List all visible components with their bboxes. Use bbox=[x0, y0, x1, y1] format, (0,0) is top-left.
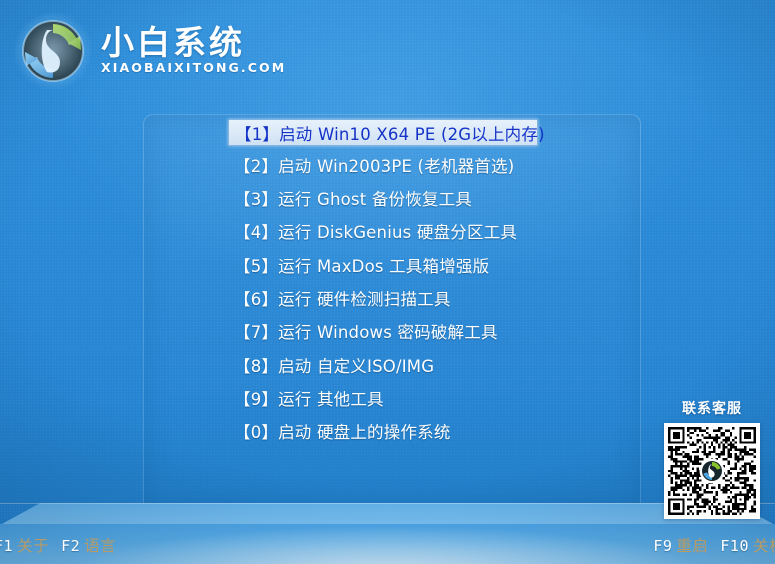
logo-glow bbox=[14, 12, 92, 90]
brand-logo-text: 小白系统 XIAOBAIXITONG.COM bbox=[101, 26, 286, 77]
boot-menu-item-key: 【8】 bbox=[234, 353, 278, 377]
qr-code-icon[interactable] bbox=[664, 423, 760, 519]
boot-menu-item-2[interactable]: 【2】启动 Win2003PE (老机器首选) bbox=[228, 152, 538, 177]
function-key-label-f9[interactable]: 重启 bbox=[676, 537, 708, 555]
boot-menu-item-9[interactable]: 【9】运行 其他工具 bbox=[228, 385, 538, 410]
boot-menu-item-key: 【2】 bbox=[234, 153, 278, 177]
boot-menu-item-label: 运行 硬件检测扫描工具 bbox=[278, 286, 450, 310]
boot-menu-item-label: 运行 DiskGenius 硬盘分区工具 bbox=[278, 219, 517, 243]
boot-menu-item-label: 启动 Win10 X64 PE (2G以上内存) bbox=[279, 121, 545, 145]
boot-menu-list[interactable]: 【1】启动 Win10 X64 PE (2G以上内存)【2】启动 Win2003… bbox=[228, 119, 538, 452]
boot-menu-item-key: 【3】 bbox=[234, 186, 278, 210]
function-key-label-f1[interactable]: 关于 bbox=[17, 537, 49, 555]
boot-menu-item-10[interactable]: 【0】启动 硬盘上的操作系统 bbox=[228, 419, 538, 444]
boot-menu-item-label: 启动 硬盘上的操作系统 bbox=[278, 419, 450, 443]
brand-name-cn: 小白系统 bbox=[101, 26, 286, 59]
function-key-label-f10[interactable]: 关机 bbox=[753, 537, 775, 555]
brand-logo: 小白系统 XIAOBAIXITONG.COM bbox=[14, 12, 286, 90]
function-key-code-f1: F1 bbox=[0, 537, 13, 555]
customer-support-block: 联系客服 bbox=[660, 402, 764, 519]
function-key-code-f2: F2 bbox=[61, 537, 80, 555]
boot-menu-item-label: 启动 自定义ISO/IMG bbox=[278, 353, 434, 377]
boot-menu-item-1[interactable]: 【1】启动 Win10 X64 PE (2G以上内存) bbox=[228, 119, 538, 146]
boot-menu-item-label: 启动 Win2003PE (老机器首选) bbox=[278, 153, 514, 177]
brand-logo-icon bbox=[701, 460, 723, 482]
stage-platform-edge bbox=[0, 503, 775, 504]
boot-menu-item-label: 运行 MaxDos 工具箱增强版 bbox=[278, 253, 489, 277]
boot-menu-screen: 小白系统 XIAOBAIXITONG.COM 【1】启动 Win10 X64 P… bbox=[0, 0, 775, 564]
function-keys-left[interactable]: F1关于F2语言 bbox=[0, 539, 128, 555]
function-keys-right[interactable]: F9重启F10关机 bbox=[653, 539, 775, 555]
boot-menu-item-6[interactable]: 【6】运行 硬件检测扫描工具 bbox=[228, 285, 538, 310]
boot-menu-item-5[interactable]: 【5】运行 MaxDos 工具箱增强版 bbox=[228, 252, 538, 277]
boot-menu-item-7[interactable]: 【7】运行 Windows 密码破解工具 bbox=[228, 319, 538, 344]
boot-menu-item-key: 【9】 bbox=[234, 386, 278, 410]
boot-menu-item-label: 运行 其他工具 bbox=[278, 386, 384, 410]
boot-menu-item-3[interactable]: 【3】运行 Ghost 备份恢复工具 bbox=[228, 186, 538, 211]
boot-menu-item-key: 【5】 bbox=[234, 253, 278, 277]
boot-menu-item-label: 运行 Ghost 备份恢复工具 bbox=[278, 186, 472, 210]
boot-menu-item-key: 【0】 bbox=[234, 419, 278, 443]
boot-menu-item-label: 运行 Windows 密码破解工具 bbox=[278, 319, 498, 343]
brand-name-en: XIAOBAIXITONG.COM bbox=[101, 62, 286, 75]
boot-menu-item-key: 【1】 bbox=[235, 121, 279, 145]
stage-platform-top bbox=[0, 503, 775, 525]
boot-menu-item-4[interactable]: 【4】运行 DiskGenius 硬盘分区工具 bbox=[228, 219, 538, 244]
recycle-circle-logo-icon bbox=[14, 12, 92, 90]
function-key-code-f10: F10 bbox=[720, 537, 749, 555]
boot-menu-item-key: 【6】 bbox=[234, 286, 278, 310]
function-key-label-f2[interactable]: 语言 bbox=[84, 537, 116, 555]
boot-menu-item-key: 【4】 bbox=[234, 219, 278, 243]
support-title: 联系客服 bbox=[660, 402, 764, 416]
boot-menu-item-key: 【7】 bbox=[234, 319, 278, 343]
boot-menu-item-8[interactable]: 【8】启动 自定义ISO/IMG bbox=[228, 352, 538, 377]
function-key-code-f9: F9 bbox=[653, 537, 672, 555]
